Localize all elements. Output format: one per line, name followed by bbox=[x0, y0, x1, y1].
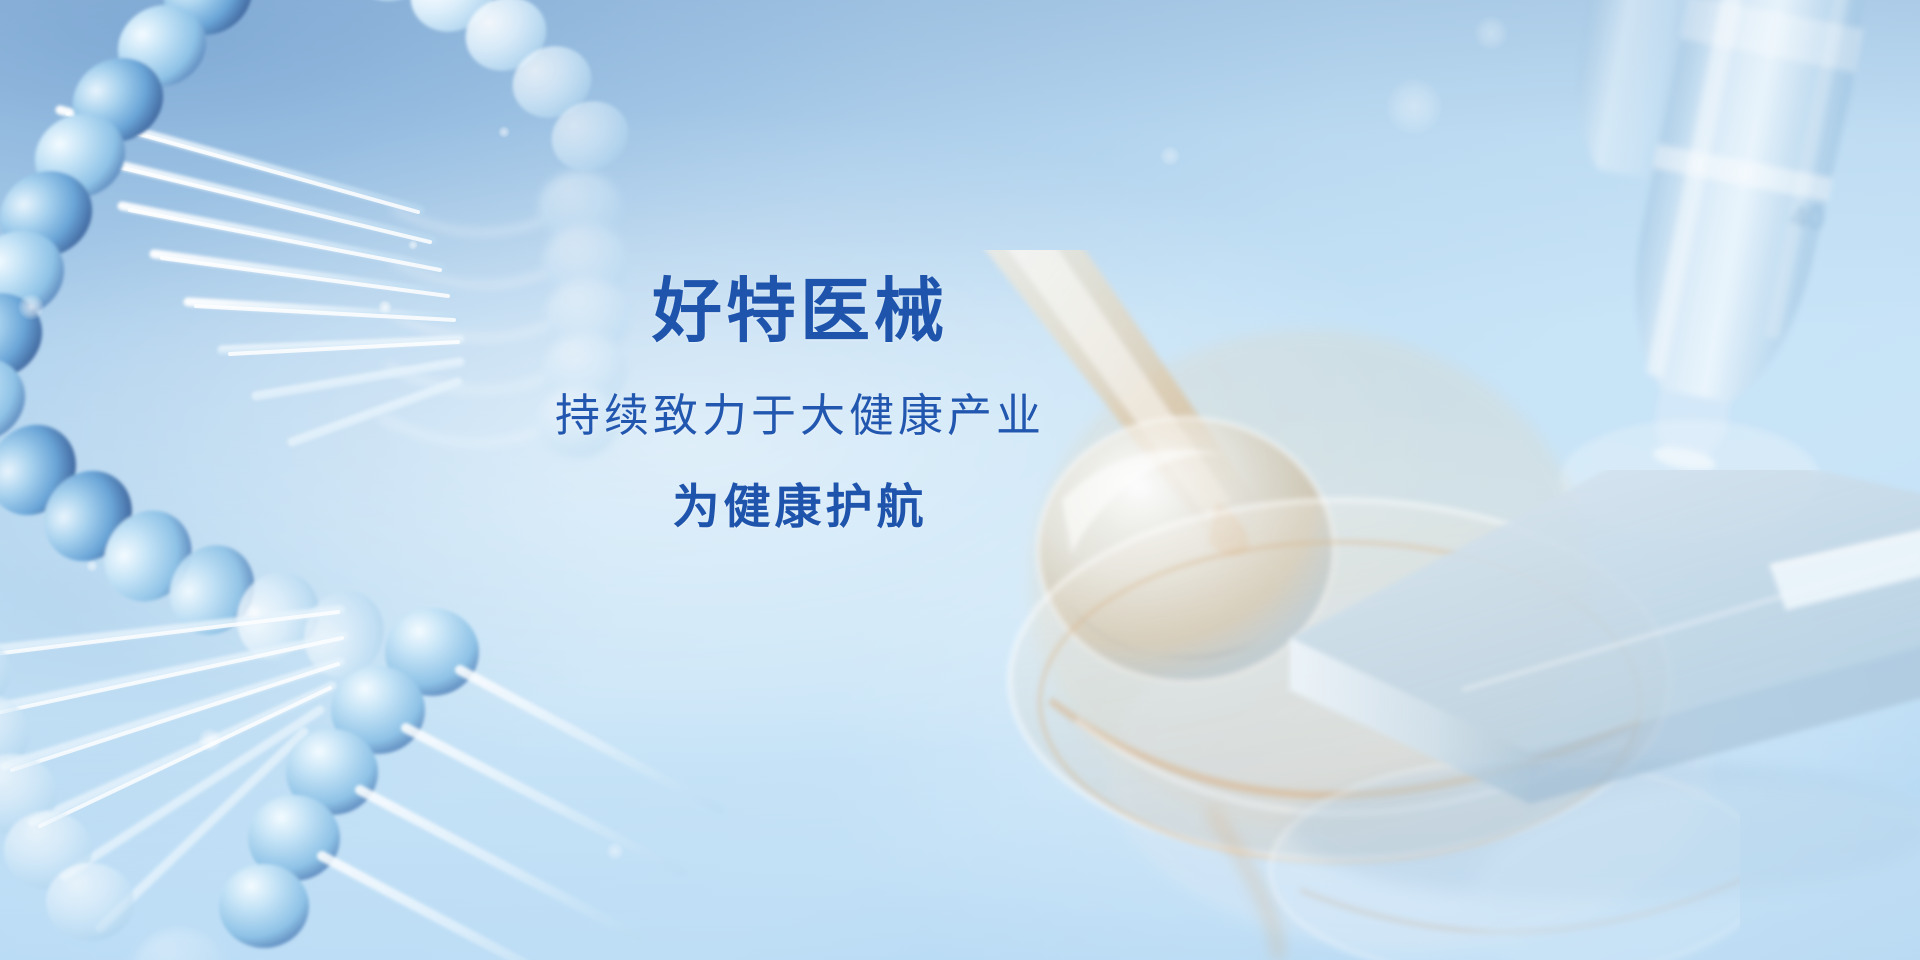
hero-tagline: 为健康护航 bbox=[0, 481, 1600, 533]
hero-banner: 40 bbox=[0, 0, 1920, 960]
hero-text-block: 好特医械 持续致力于大健康产业 为健康护航 bbox=[0, 276, 1600, 533]
page-title: 好特医械 bbox=[0, 276, 1600, 347]
hero-subtitle: 持续致力于大健康产业 bbox=[0, 391, 1600, 441]
